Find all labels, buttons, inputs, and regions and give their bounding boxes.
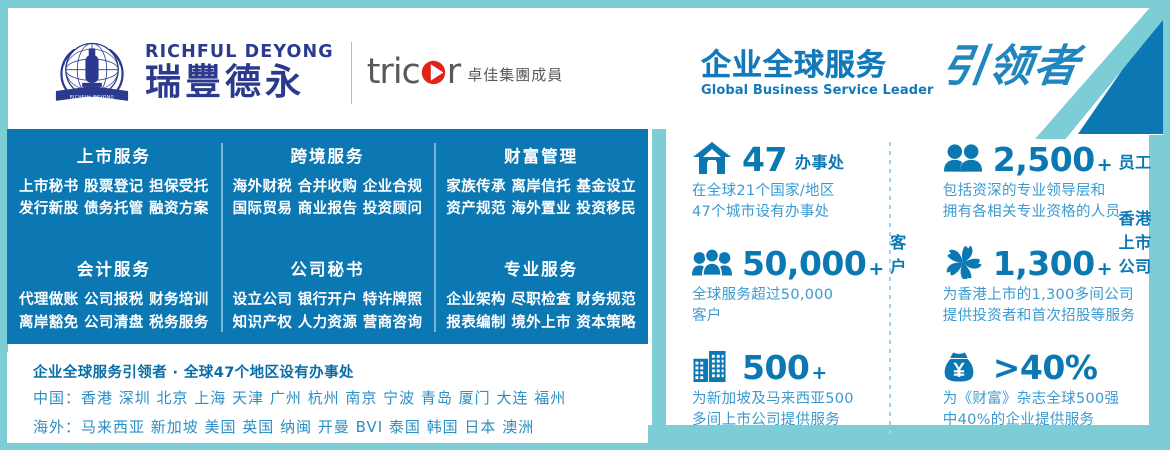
service-group-listing[interactable]: 上市服务 上市秘书 股票登记 担保受托 发行新股 债务托管 融资方案 (7, 143, 221, 221)
stat-description-line2: 47个城市设有办事处 (692, 202, 907, 223)
service-group-wealth[interactable]: 财富管理 家族传承 离岸信托 基金设立 资产规范 海外置业 投资移民 (434, 143, 648, 221)
stat-card-fortune500[interactable]: >40% 为《财富》杂志全球500强 中40%的企业提供服务 (943, 341, 1162, 445)
service-items-line: 家族传承 离岸信托 基金设立 (434, 176, 648, 198)
service-items-line: 海外财税 合并收购 企业合规 (221, 176, 435, 198)
stat-description-line1: 为香港上市的1,300多间公司 (943, 285, 1154, 306)
tricor-wordmark: tric r (367, 56, 460, 89)
service-group-corporate-secretary[interactable]: 公司秘书 设立公司 银行开户 特许牌照 知识产权 人力资源 营商咨询 (221, 256, 435, 334)
office-building-icon (692, 347, 732, 383)
stat-unit: 员工 (1119, 149, 1152, 173)
brand-names: RICHFUL DEYONG 瑞豐德永 (145, 44, 334, 102)
slogan-chinese: 企业全球服务 (701, 51, 934, 81)
tricor-subtitle: 卓佳集團成員 (467, 64, 563, 85)
stat-description-line2: 客户 (692, 306, 907, 327)
brand-chinese-name: 瑞豐德永 (145, 64, 334, 102)
stat-description-line1: 全球服务超过50,000 (692, 285, 907, 306)
service-items-line: 发行新股 债务托管 融资方案 (7, 198, 221, 220)
bauhinia-flower-icon (943, 243, 983, 279)
stats-grid: 47 办事处 在全球21个国家/地区 47个城市设有办事处 (692, 133, 1162, 445)
stat-plus: + (868, 260, 884, 279)
service-items-line: 报表编制 境外上市 资本策略 (434, 312, 648, 334)
service-group-title: 公司秘书 (221, 256, 435, 280)
stat-number: 50,000 (742, 248, 866, 279)
slogan-brush-calligraphy: 引领者 (938, 45, 1082, 89)
stat-plus: + (811, 364, 827, 383)
stat-description-line2: 提供投资者和首次招股等服务 (943, 306, 1154, 327)
service-group-title: 上市服务 (7, 143, 221, 167)
stat-unit: 办事处 (795, 149, 845, 173)
stat-card-clients[interactable]: 50,000 + 客户 全球服务超过50,000 客户 (692, 237, 915, 341)
stat-card-sg-my-listed[interactable]: 500 + 为新加坡及马来西亚500 多间上市公司提供服务 (692, 341, 915, 445)
tricor-lockup: tric r 卓佳集團成員 (367, 56, 564, 89)
stat-description-line1: 包括资深的专业领导层和 (943, 181, 1154, 202)
stat-description-line2: 多间上市公司提供服务 (692, 410, 907, 431)
stat-card-offices[interactable]: 47 办事处 在全球21个国家/地区 47个城市设有办事处 (692, 133, 915, 237)
services-column-3: 财富管理 家族传承 离岸信托 基金设立 资产规范 海外置业 投资移民 专业服务 … (434, 129, 648, 344)
service-group-crossborder[interactable]: 跨境服务 海外财税 合并收购 企业合规 国际贸易 商业报告 投资顾问 (221, 143, 435, 221)
slogan-block: 企业全球服务 Global Business Service Leader 引领… (701, 51, 1080, 97)
offices-domestic-list: 中国：香港 深圳 北京 上海 天津 广州 杭州 南京 宁波 青岛 厦门 大连 福… (33, 386, 648, 411)
stat-description-line1: 为《财富》杂志全球500强 (943, 389, 1154, 410)
service-items-line: 代理做账 公司报税 财务培训 (7, 289, 221, 311)
stat-number: >40% (993, 352, 1098, 383)
service-items-line: 设立公司 银行开户 特许牌照 (221, 289, 435, 311)
stat-unit: 香港上市公司 (1119, 205, 1154, 277)
brand-logo[interactable]: RICHFUL DEYONG RICHFUL DEYONG 瑞豐德永 tric … (51, 35, 563, 111)
stat-number: 500 (742, 352, 809, 383)
service-group-title: 财富管理 (434, 143, 648, 167)
stat-number: 47 (742, 144, 787, 175)
services-column-2: 跨境服务 海外财税 合并收购 企业合规 国际贸易 商业报告 投资顾问 公司秘书 … (221, 129, 435, 344)
service-group-title: 跨境服务 (221, 143, 435, 167)
services-column-1: 上市服务 上市秘书 股票登记 担保受托 发行新股 债务托管 融资方案 会计服务 … (7, 129, 221, 344)
service-items-line: 上市秘书 股票登记 担保受托 (7, 176, 221, 198)
stat-unit: 客户 (890, 229, 907, 277)
offices-overseas-list: 海外：马来西亚 新加坡 美国 英国 纳闽 开曼 BVI 泰国 韩国 日本 澳洲 (33, 415, 648, 440)
house-icon (692, 139, 732, 175)
brand-divider (351, 42, 352, 104)
tricor-o-mark-icon (420, 59, 447, 86)
stat-plus: + (1097, 156, 1113, 175)
service-items-line: 国际贸易 商业报告 投资顾问 (221, 198, 435, 220)
service-items-line: 知识产权 人力资源 营商咨询 (221, 312, 435, 334)
slogan-english: Global Business Service Leader (701, 84, 934, 97)
three-people-icon (692, 243, 732, 279)
panel-divider-teal (652, 129, 666, 443)
offices-section: 企业全球服务引领者 · 全球47个地区设有办事处 中国：香港 深圳 北京 上海 … (7, 352, 648, 444)
service-group-title: 会计服务 (7, 256, 221, 280)
stat-number: 1,300 (993, 248, 1095, 279)
stat-plus: + (1097, 260, 1113, 279)
stat-description-line1: 在全球21个国家/地区 (692, 181, 907, 202)
service-items-line: 离岸豁免 公司清盘 税务服务 (7, 312, 221, 334)
stat-number: 2,500 (993, 144, 1095, 175)
header: RICHFUL DEYONG RICHFUL DEYONG 瑞豐德永 tric … (7, 7, 1170, 125)
service-group-accounting[interactable]: 会计服务 代理做账 公司报税 财务培训 离岸豁免 公司清盘 税务服务 (7, 256, 221, 334)
two-people-icon (943, 139, 983, 175)
offices-headline: 企业全球服务引领者 · 全球47个地区设有办事处 (33, 352, 648, 382)
richful-deyong-crest-icon: RICHFUL DEYONG (51, 35, 133, 111)
poster-root: RICHFUL DEYONG RICHFUL DEYONG 瑞豐德永 tric … (0, 0, 1170, 450)
stat-card-hk-listed[interactable]: 1,300 + 香港上市公司 为香港上市的1,300多间公司 提供投资者和首次招… (943, 237, 1162, 341)
service-items-line: 资产规范 海外置业 投资移民 (434, 198, 648, 220)
brand-english-name: RICHFUL DEYONG (145, 44, 334, 62)
svg-text:RICHFUL DEYONG: RICHFUL DEYONG (70, 94, 115, 100)
stat-description-line2: 中40%的企业提供服务 (943, 410, 1154, 431)
service-group-professional[interactable]: 专业服务 企业架构 尽职检查 财务规范 报表编制 境外上市 资本策略 (434, 256, 648, 334)
stat-description-line1: 为新加坡及马来西亚500 (692, 389, 907, 410)
service-group-title: 专业服务 (434, 256, 648, 280)
services-panel: 上市服务 上市秘书 股票登记 担保受托 发行新股 债务托管 融资方案 会计服务 … (7, 129, 648, 344)
service-items-line: 企业架构 尽职检查 财务规范 (434, 289, 648, 311)
money-bag-yen-icon (943, 347, 983, 383)
